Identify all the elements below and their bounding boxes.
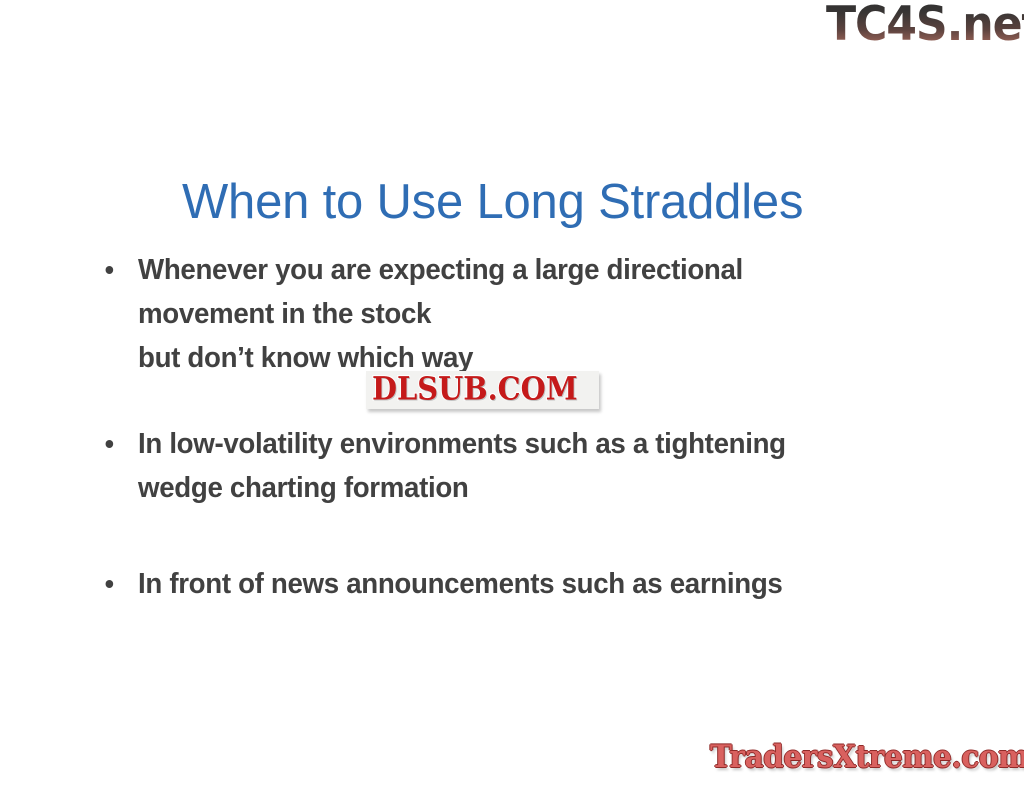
bullet-line: wedge charting formation <box>138 466 917 510</box>
tradersxtreme-watermark-text: TradersXtreme.com <box>710 742 1024 773</box>
tradersxtreme-watermark: TradersXtreme.com <box>710 742 1024 773</box>
bullet-dot-icon <box>106 266 114 274</box>
list-item: Whenever you are expecting a large direc… <box>96 248 917 380</box>
bullet-list: Whenever you are expecting a large direc… <box>96 248 956 606</box>
bullet-dot-icon <box>106 580 114 588</box>
slide-title: When to Use Long Straddles <box>182 173 882 231</box>
bullet-line: In front of news announcements such as e… <box>138 562 917 606</box>
presentation-slide: TC4S.net When to Use Long Straddles When… <box>0 0 1024 791</box>
bullet-line: movement in the stock <box>138 292 917 336</box>
dlsub-watermark: DLSUB.COM <box>366 371 599 409</box>
dlsub-watermark-text: DLSUB.COM <box>372 374 578 406</box>
bullet-line: In low-volatility environments such as a… <box>138 422 917 466</box>
bullet-line: Whenever you are expecting a large direc… <box>138 248 917 292</box>
tc4s-watermark: TC4S.net <box>826 0 1024 52</box>
bullet-dot-icon <box>106 440 114 448</box>
list-item: In front of news announcements such as e… <box>96 562 917 606</box>
list-item: In low-volatility environments such as a… <box>96 422 917 510</box>
